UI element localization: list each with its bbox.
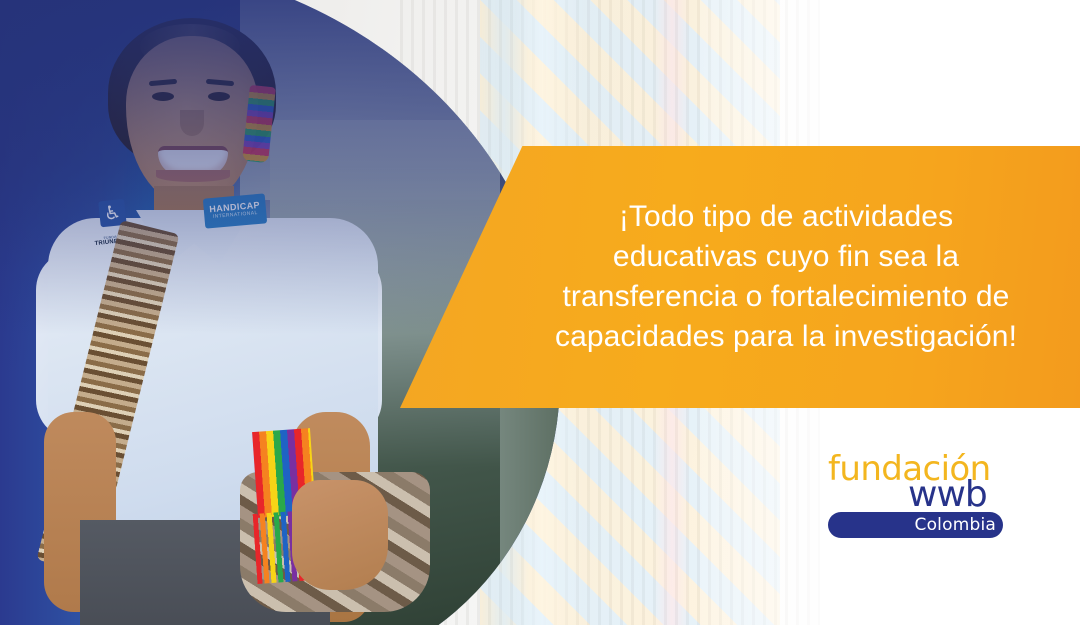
person-hand-right: [292, 480, 388, 590]
fundacion-wwb-colombia-logo[interactable]: fundación wwb Colombia: [828, 452, 1008, 544]
person-eye-right: [208, 92, 230, 101]
logo-word-colombia: Colombia: [828, 512, 996, 538]
headline-text: ¡Todo tipo de actividades educativas cuy…: [550, 197, 1022, 357]
headline-container: ¡Todo tipo de actividades educativas cuy…: [400, 146, 1080, 408]
badge-handicap-international: HANDICAP INTERNATIONAL: [203, 193, 267, 228]
banner-canvas: ♿ FUNDACIÓN TRIUNFEMOS HANDICAP INTERNAT…: [0, 0, 1080, 625]
logo-word-wwb: wwb: [908, 477, 987, 513]
person-lower-lip: [156, 170, 230, 182]
person-nose: [180, 110, 204, 136]
person-eye-left: [152, 92, 174, 101]
